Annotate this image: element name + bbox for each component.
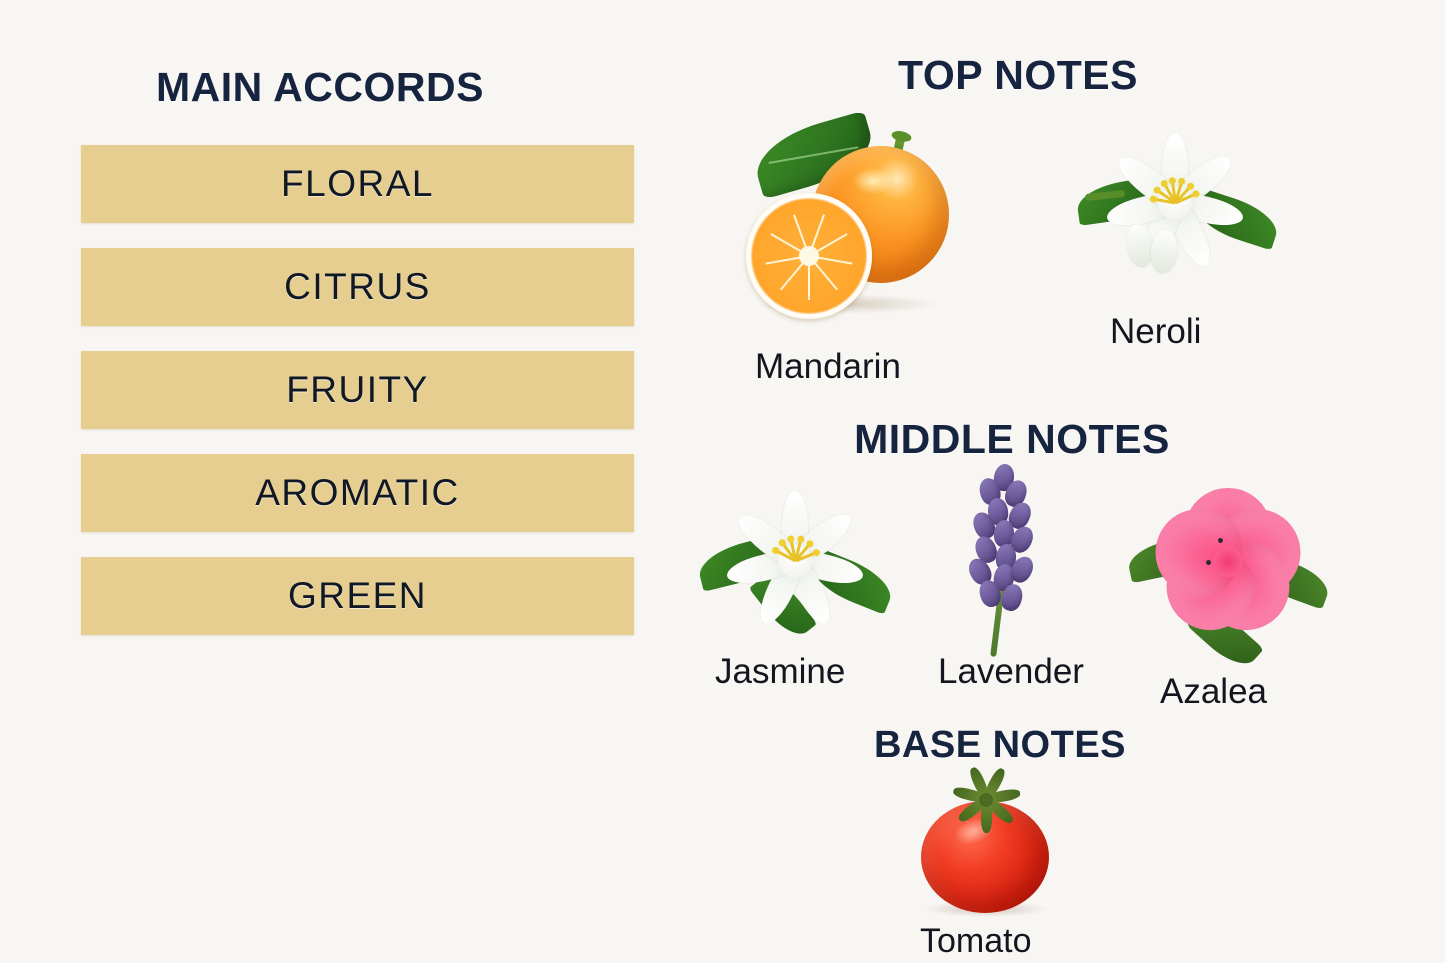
note-label-mandarin: Mandarin xyxy=(755,347,901,387)
accord-label: AROMATIC xyxy=(255,472,460,514)
base-notes-title: BASE NOTES xyxy=(740,724,1260,767)
lavender-sprig-icon xyxy=(950,462,1058,657)
mandarin-half-slice xyxy=(746,193,872,319)
main-accords-list: FLORAL CITRUS FRUITY AROMATIC GREEN xyxy=(81,145,634,660)
accord-bar-aromatic[interactable]: AROMATIC xyxy=(81,454,634,532)
accord-bar-floral[interactable]: FLORAL xyxy=(81,145,634,223)
accord-label: FRUITY xyxy=(286,369,429,411)
accord-label: CITRUS xyxy=(284,266,431,308)
mandarin-orange-icon xyxy=(742,108,957,333)
accord-label: FLORAL xyxy=(281,163,434,205)
note-label-jasmine: Jasmine xyxy=(715,652,845,692)
tomato-icon xyxy=(915,787,1057,915)
fragrance-notes-infographic: MAIN ACCORDS FLORAL CITRUS FRUITY AROMAT… xyxy=(0,0,1445,963)
accord-bar-green[interactable]: GREEN xyxy=(81,557,634,635)
middle-notes-title: MIDDLE NOTES xyxy=(712,416,1312,463)
note-label-tomato: Tomato xyxy=(920,922,1032,961)
jasmine-flower-icon xyxy=(702,478,888,644)
note-label-neroli: Neroli xyxy=(1110,312,1201,352)
note-label-lavender: Lavender xyxy=(938,652,1084,692)
azalea-flower-icon xyxy=(1128,472,1328,652)
neroli-blossom-icon xyxy=(1075,108,1275,298)
azalea-center xyxy=(1213,547,1243,577)
accord-bar-citrus[interactable]: CITRUS xyxy=(81,248,634,326)
tomato-calyx xyxy=(979,793,993,807)
mandarin-core xyxy=(799,246,819,266)
main-accords-title: MAIN ACCORDS xyxy=(0,64,640,111)
accord-bar-fruity[interactable]: FRUITY xyxy=(81,351,634,429)
note-label-azalea: Azalea xyxy=(1160,672,1267,712)
top-notes-title: TOP NOTES xyxy=(718,52,1318,99)
accord-label: GREEN xyxy=(288,575,427,617)
